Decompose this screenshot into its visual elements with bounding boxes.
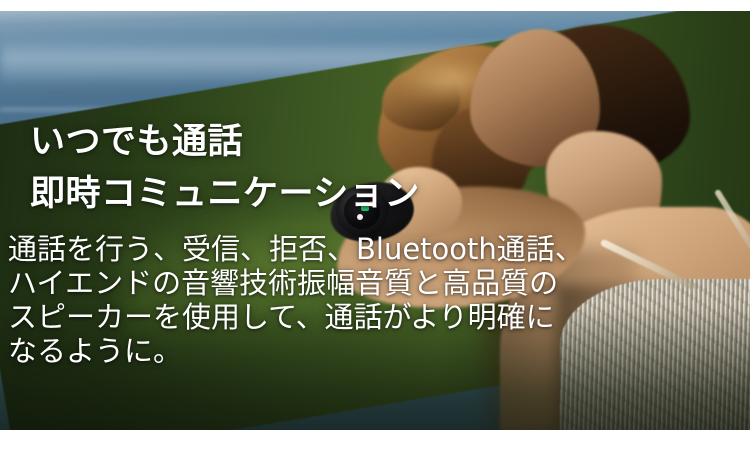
headline-line-2: 即時コミュニケーション xyxy=(30,168,420,220)
letterbox-top xyxy=(0,0,750,11)
body-line-1: 通話を行う、受信、拒否、Bluetooth通話、 xyxy=(8,232,628,266)
product-feature-banner: いつでも通話 即時コミュニケーション 通話を行う、受信、拒否、Bluetooth… xyxy=(0,0,750,449)
headline: いつでも通話 即時コミュニケーション xyxy=(30,116,420,220)
body-line-3: スピーカーを使用して、通話がより明確に xyxy=(8,300,628,334)
headline-line-1: いつでも通話 xyxy=(30,116,420,168)
text-overlay: いつでも通話 即時コミュニケーション 通話を行う、受信、拒否、Bluetooth… xyxy=(0,0,750,449)
body-line-2: ハイエンドの音響技術振幅音質と高品質の xyxy=(8,266,628,300)
body-line-4: なるように。 xyxy=(8,334,628,368)
body-copy: 通話を行う、受信、拒否、Bluetooth通話、 ハイエンドの音響技術振幅音質と… xyxy=(8,232,628,368)
letterbox-bottom xyxy=(0,430,750,449)
